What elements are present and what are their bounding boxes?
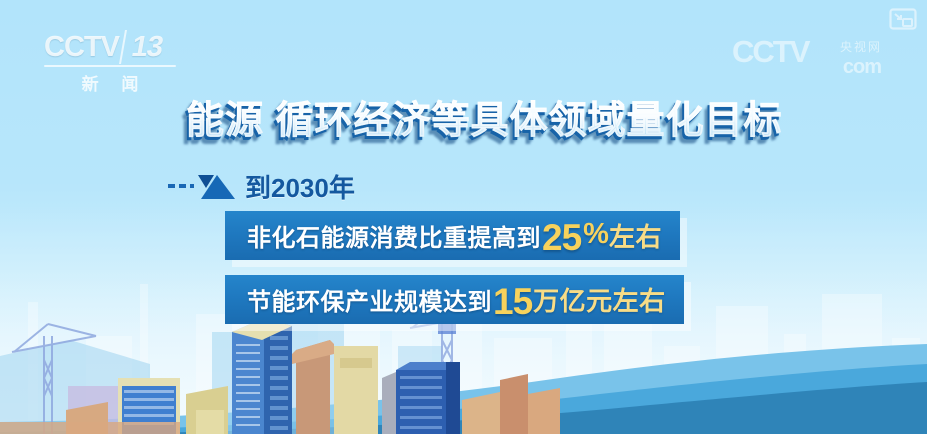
channel-number: 13 [119,30,171,64]
broadcast-screen: CCTV13 新 闻 CCTV 央视网 com 能源 循环经济等具体领域量化目标… [0,0,927,434]
target-banner-2: 节能环保产业规模达到 15 万亿元 左右 [225,275,684,324]
channel-logo-row: CCTV13 [44,30,176,64]
timeframe-marker: 到2030年 [168,170,355,202]
target-2-prefix: 节能环保产业规模达到 [247,282,492,317]
channel-name: 新 闻 [44,70,176,95]
target-2-unit: 万亿元 [533,281,613,318]
channel-logo-text: CCTV [44,31,119,63]
channel-logo-rule [44,65,176,67]
timeframe-label: 到2030年 [245,168,355,205]
target-2-suffix: 左右 [613,281,666,318]
target-1-value: 25 [542,217,581,259]
page-title: 能源 循环经济等具体领域量化目标 [186,98,783,144]
target-banner-1: 非化石能源消费比重提高到 25 % 左右 [225,211,680,260]
channel-logo: CCTV13 新 闻 [44,30,176,92]
picture-in-picture-icon[interactable] [889,8,917,30]
target-2-value: 15 [493,281,532,323]
watermark-domain-text: com [843,56,881,79]
dashed-leader-icon [168,184,194,188]
target-1-prefix: 非化石能源消费比重提高到 [247,218,541,253]
triangle-marker-icon [198,173,236,199]
watermark-cn-text: 央视网 [840,38,882,55]
target-1-unit: % [583,218,608,251]
cctv-com-watermark: CCTV 央视网 com [732,36,882,80]
target-1-suffix: 左右 [609,217,662,254]
